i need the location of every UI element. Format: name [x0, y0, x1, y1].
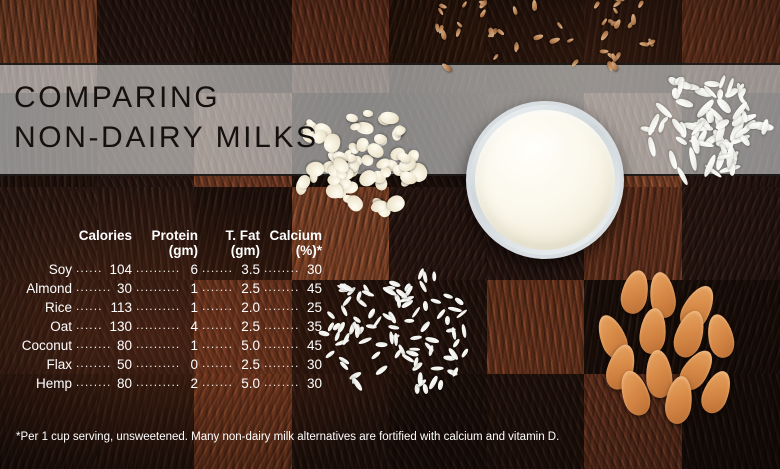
value-fat: 2.0	[235, 300, 260, 315]
column-header-protein: Protein (gm)	[132, 228, 198, 258]
value-calories: 130	[103, 319, 132, 334]
shredded-coconut-pile	[648, 62, 774, 182]
value-calcium: 45	[301, 281, 322, 296]
infographic-canvas: Comparing Non-Dairy Milks Calories Prote…	[0, 0, 780, 469]
value-calories: 30	[111, 281, 132, 296]
value-protein: 1	[184, 300, 198, 315]
almond	[618, 268, 653, 316]
rice-grain	[371, 316, 382, 330]
flax-seed	[533, 33, 544, 40]
flax-seed	[492, 53, 499, 61]
cell-protein: ..........4	[132, 319, 198, 334]
column-header-calcium: Calcium (%)*	[260, 228, 322, 258]
cell-fat: .......2.5	[198, 319, 260, 334]
value-protein: 4	[184, 319, 198, 334]
nutrition-table: Calories Protein (gm) T. Fat (gm) Calciu…	[0, 228, 330, 391]
row-label-rice: Rice	[0, 300, 72, 315]
coconut-shred	[716, 88, 724, 99]
value-protein: 0	[184, 357, 198, 372]
rice-grain	[460, 347, 468, 357]
header-unit: (%)*	[260, 243, 322, 258]
page-title: Comparing Non-Dairy Milks	[14, 78, 319, 158]
rice-grain	[448, 306, 463, 313]
cell-calories: ........50	[72, 357, 132, 372]
cell-protein: ..........2	[132, 376, 198, 391]
value-calories: 50	[111, 357, 132, 372]
cell-calories: ........80	[72, 338, 132, 353]
value-protein: 1	[184, 338, 198, 353]
cell-protein: ..........1	[132, 300, 198, 315]
flax-seed	[571, 59, 579, 68]
value-calories: 113	[104, 300, 132, 315]
cell-calories: ........80	[72, 376, 132, 391]
value-calcium: 30	[301, 376, 322, 391]
coconut-shred	[668, 150, 679, 170]
rice-grain	[342, 295, 353, 307]
rice-grain	[351, 377, 363, 392]
cell-protein: ..........1	[132, 281, 198, 296]
value-calcium: 30	[301, 262, 322, 277]
cell-fat: .......3.5	[198, 262, 260, 277]
header-unit: (gm)	[132, 243, 198, 258]
value-protein: 2	[184, 376, 198, 391]
title-line-2: Non-Dairy Milks	[14, 118, 319, 158]
cell-fat: .......2.5	[198, 281, 260, 296]
flax-seed	[613, 6, 620, 14]
table-row: Hemp........80..........2.......5.0.....…	[0, 376, 330, 391]
value-fat: 5.0	[235, 338, 260, 353]
header-label: Calories	[79, 228, 132, 243]
cell-protein: ..........1	[132, 338, 198, 353]
value-fat: 2.5	[235, 319, 260, 334]
rice-grain	[388, 324, 400, 329]
rice-grain	[376, 342, 388, 347]
cell-fat: .......2.5	[198, 357, 260, 372]
rice-grain	[430, 298, 441, 305]
flax-seed	[567, 37, 574, 43]
value-calcium: 45	[301, 338, 322, 353]
flax-seed	[514, 43, 519, 52]
cell-calcium: ........30	[260, 376, 322, 391]
cell-calcium: ........45	[260, 281, 322, 296]
coconut-shred	[647, 136, 657, 157]
value-calcium: 25	[301, 300, 322, 315]
cell-calcium: ........30	[260, 262, 322, 277]
rice-grain	[437, 379, 443, 390]
header-unit: (gm)	[198, 243, 260, 258]
cell-fat: .......5.0	[198, 376, 260, 391]
flax-seed	[441, 62, 452, 73]
cell-calcium: ........25	[260, 300, 322, 315]
table-row: Coconut........80..........1.......5.0..…	[0, 338, 330, 353]
row-label-hemp: Hemp	[0, 376, 72, 391]
table-row: Flax........50..........0.......2.5.....…	[0, 357, 330, 372]
cell-calcium: ........45	[260, 338, 322, 353]
flax-seed	[556, 21, 563, 29]
rice-grain	[420, 320, 432, 333]
table-row: Almond........30..........1.......2.5...…	[0, 281, 330, 296]
flax-seed	[479, 9, 487, 19]
header-label: Protein	[151, 228, 198, 243]
rice-grain	[431, 367, 444, 372]
value-fat: 2.5	[235, 357, 260, 372]
rice-grain	[410, 335, 422, 341]
almonds-group	[588, 252, 768, 422]
rice-grain	[371, 350, 382, 360]
row-label-soy: Soy	[0, 262, 72, 277]
value-calories: 104	[103, 262, 132, 277]
value-fat: 2.5	[235, 281, 260, 296]
flax-seed	[462, 1, 469, 9]
rice-grain	[445, 316, 450, 325]
rice-grain	[342, 332, 352, 346]
rice-grain	[358, 337, 372, 346]
rice-grain	[367, 307, 377, 319]
title-line-1: Comparing	[14, 81, 220, 114]
rice-grain	[454, 297, 465, 307]
column-header-total-fat: T. Fat (gm)	[198, 228, 260, 258]
flax-seed	[593, 0, 600, 9]
flax-seed	[497, 28, 506, 36]
rice-grain	[422, 301, 428, 311]
rice-grain	[410, 306, 420, 318]
cell-fat: .......2.0	[198, 300, 260, 315]
table-row: Oat......130..........4.......2.5.......…	[0, 319, 330, 334]
milk-highlight	[506, 130, 568, 164]
flax-seed	[454, 27, 461, 37]
table-row: Rice......113..........1.......2.0......…	[0, 300, 330, 315]
coconut-shred	[657, 121, 666, 134]
value-calories: 80	[111, 376, 132, 391]
value-calcium: 35	[301, 319, 322, 334]
rice-grain	[388, 331, 394, 345]
value-calories: 80	[111, 338, 132, 353]
white-rice-pile	[318, 268, 482, 390]
header-label: T. Fat	[225, 228, 260, 243]
row-label-almond: Almond	[0, 281, 72, 296]
rice-grain	[355, 290, 362, 301]
cell-calories: ......104	[72, 262, 132, 277]
value-calcium: 30	[301, 357, 322, 372]
flax-seed	[630, 14, 636, 25]
rice-grain	[404, 319, 414, 324]
column-header-calories: Calories	[0, 228, 132, 243]
rice-grain	[461, 324, 467, 338]
rice-grain	[442, 293, 453, 300]
rice-grain	[374, 364, 388, 377]
row-label-flax: Flax	[0, 357, 72, 372]
footnote: *Per 1 cup serving, unsweetened. Many no…	[16, 431, 559, 443]
row-label-oat: Oat	[0, 319, 72, 334]
table-body: Soy......104..........6.......3.5.......…	[0, 262, 330, 391]
flax-seed	[456, 21, 463, 28]
cell-calcium: ........30	[260, 357, 322, 372]
rice-grain	[432, 271, 437, 282]
cell-fat: .......5.0	[198, 338, 260, 353]
flax-seed	[548, 36, 560, 45]
coconut-shred	[717, 75, 726, 89]
cell-calories: ........30	[72, 281, 132, 296]
flax-seed	[532, 0, 537, 11]
header-label: Calcium	[269, 228, 322, 243]
table-header-row: Calories Protein (gm) T. Fat (gm) Calciu…	[0, 228, 330, 258]
cell-protein: ..........6	[132, 262, 198, 277]
milk-surface	[475, 110, 615, 250]
glass-of-milk	[466, 101, 624, 259]
flax-seed	[437, 7, 444, 15]
cell-calories: ......113	[72, 300, 132, 315]
coconut-shred	[675, 97, 694, 110]
value-fat: 3.5	[235, 262, 260, 277]
value-fat: 5.0	[235, 376, 260, 391]
table-row: Soy......104..........6.......3.5.......…	[0, 262, 330, 277]
flax-seed	[599, 29, 609, 41]
oat-flake	[363, 110, 374, 117]
value-protein: 1	[184, 281, 198, 296]
flax-seeds-scatter	[430, 0, 650, 72]
coconut-shred	[706, 111, 712, 123]
cell-calories: ......130	[72, 319, 132, 334]
cell-protein: ..........0	[132, 357, 198, 372]
cell-calcium: ........35	[260, 319, 322, 334]
flax-seed	[512, 5, 518, 15]
row-label-coconut: Coconut	[0, 338, 72, 353]
value-protein: 6	[184, 262, 198, 277]
flax-seed	[637, 0, 644, 9]
